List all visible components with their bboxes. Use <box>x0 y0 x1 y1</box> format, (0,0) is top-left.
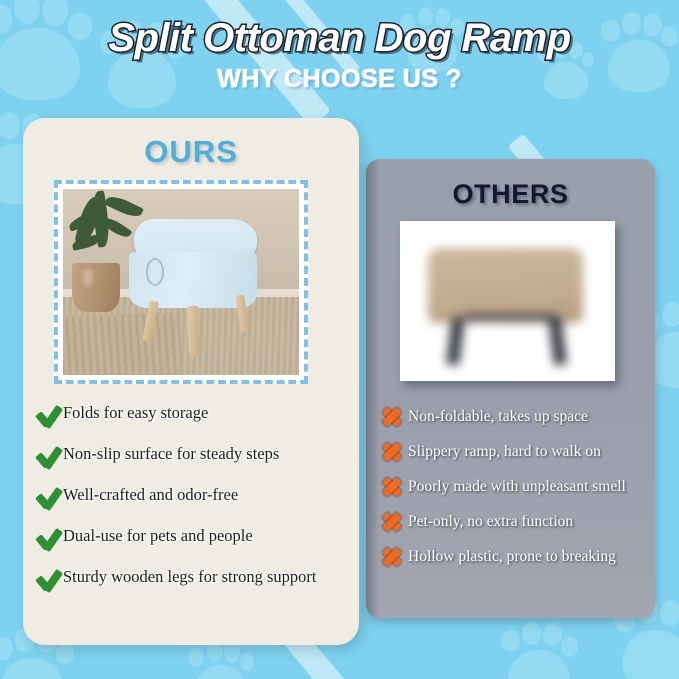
list-item: Folds for easy storage <box>35 403 349 430</box>
header: Split Ottoman Dog Ramp WHY CHOOSE US ? <box>0 16 679 94</box>
cross-icon <box>380 510 404 534</box>
list-item: Slippery ramp, hard to walk on <box>380 440 647 464</box>
list-item: Non-foldable, takes up space <box>380 405 647 429</box>
ours-panel: OURS <box>23 118 359 645</box>
ours-photo-frame <box>54 180 308 384</box>
cross-icon <box>380 405 404 429</box>
list-item-label: Dual-use for pets and people <box>63 526 253 546</box>
others-heading: OTHERS <box>366 179 655 210</box>
check-icon <box>35 527 61 553</box>
check-icon <box>35 404 61 430</box>
list-item: Poorly made with unpleasant smell <box>380 475 647 499</box>
list-item-label: Non-slip surface for steady steps <box>63 444 279 464</box>
list-item: Hollow plastic, prone to breaking <box>380 545 647 569</box>
list-item-label: Sturdy wooden legs for strong support <box>63 567 316 587</box>
list-item-label: Non-foldable, takes up space <box>408 408 588 426</box>
ours-product-photo <box>63 189 299 375</box>
list-item-label: Well-crafted and odor-free <box>63 485 238 505</box>
paw-print-icon <box>186 640 258 679</box>
list-item: Well-crafted and odor-free <box>35 485 349 512</box>
cross-icon <box>380 545 404 569</box>
check-icon <box>35 445 61 471</box>
ours-heading: OURS <box>23 134 359 170</box>
list-item-label: Slippery ramp, hard to walk on <box>408 443 601 461</box>
cross-icon <box>380 440 404 464</box>
others-panel: OTHERS Non-foldable, takes up space Slip… <box>366 159 655 618</box>
list-item: Non-slip surface for steady steps <box>35 444 349 471</box>
list-item: Dual-use for pets and people <box>35 526 349 553</box>
list-item: Pet-only, no extra function <box>380 510 647 534</box>
cross-icon <box>380 475 404 499</box>
list-item-label: Folds for easy storage <box>63 403 208 423</box>
list-item-label: Poorly made with unpleasant smell <box>408 478 626 496</box>
list-item-label: Pet-only, no extra function <box>408 513 573 531</box>
ours-feature-list: Folds for easy storage Non-slip surface … <box>35 403 349 608</box>
list-item: Sturdy wooden legs for strong support <box>35 567 349 594</box>
others-product-photo <box>400 221 615 381</box>
check-icon <box>35 486 61 512</box>
list-item-label: Hollow plastic, prone to breaking <box>408 548 616 566</box>
others-feature-list: Non-foldable, takes up space Slippery ra… <box>380 405 647 580</box>
page-subtitle: WHY CHOOSE US ? <box>0 65 679 94</box>
page-title: Split Ottoman Dog Ramp <box>0 16 679 61</box>
infographic-canvas: Split Ottoman Dog Ramp WHY CHOOSE US ? O… <box>0 0 679 679</box>
paw-print-icon <box>498 620 584 679</box>
check-icon <box>35 568 61 594</box>
